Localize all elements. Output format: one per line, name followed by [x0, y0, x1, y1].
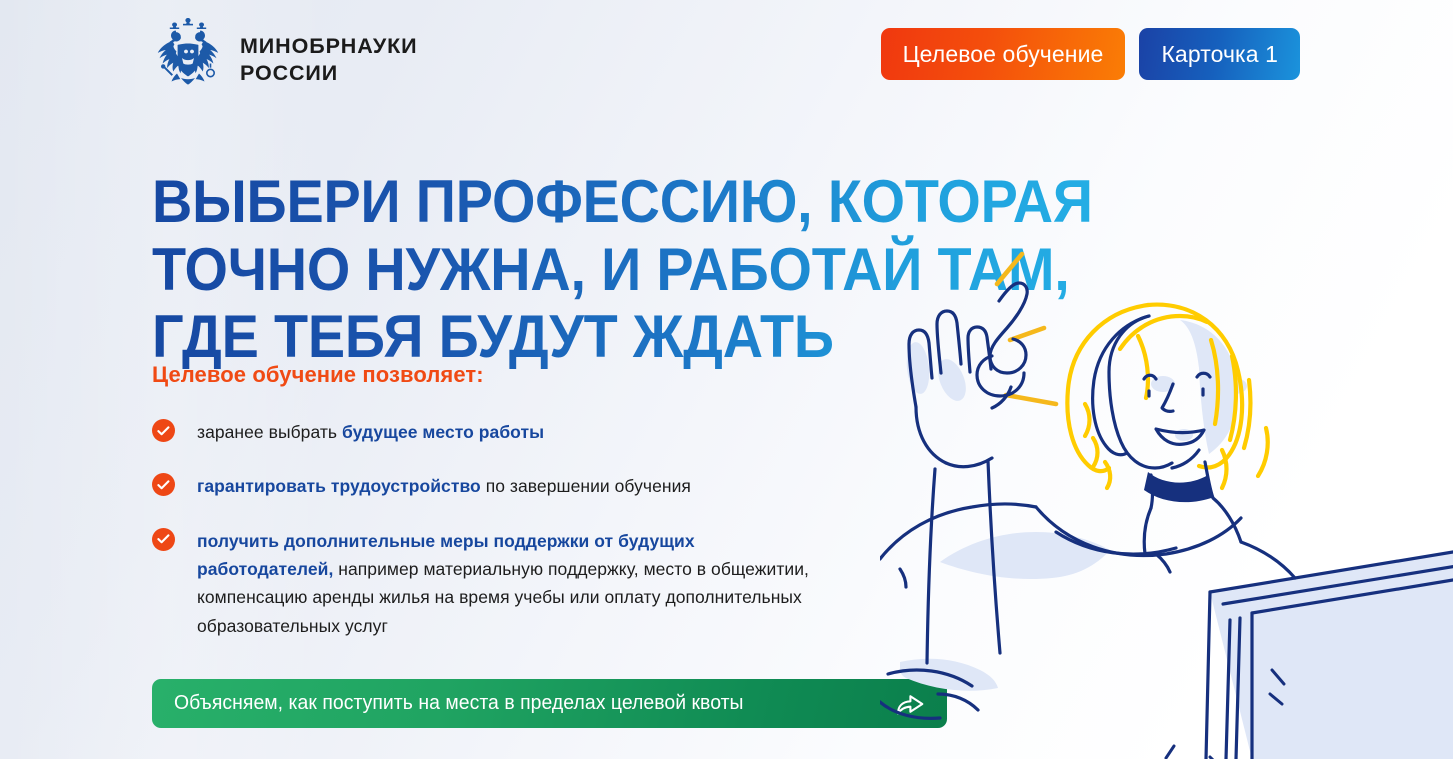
badge-card-number[interactable]: Карточка 1	[1139, 28, 1300, 80]
benefits-list: заранее выбрать будущее место работы гар…	[152, 418, 822, 666]
bullet-0-part-1: будущее место работы	[342, 422, 544, 442]
cta-button[interactable]: Объясняем, как поступить на места в пред…	[152, 679, 947, 728]
section-subheading: Целевое обучение позволяет:	[152, 362, 484, 388]
list-item-text: гарантировать трудоустройство по заверше…	[197, 472, 691, 500]
check-circle-icon	[152, 473, 175, 496]
check-circle-icon	[152, 528, 175, 551]
ministry-name: МИНОБРНАУКИ РОССИИ	[240, 29, 418, 87]
page-headline: ВЫБЕРИ ПРОФЕССИЮ, КОТОРАЯ ТОЧНО НУЖНА, И…	[152, 168, 1119, 371]
cta-button-label: Объясняем, как поступить на места в пред…	[174, 692, 744, 715]
badge-card-number-label: Карточка 1	[1161, 41, 1278, 68]
bullet-1-part-1: по завершении обучения	[481, 476, 691, 496]
bullet-0-part-0: заранее выбрать	[197, 422, 342, 442]
list-item: получить дополнительные меры поддержки о…	[152, 527, 822, 640]
list-item: заранее выбрать будущее место работы	[152, 418, 822, 446]
badge-topic[interactable]: Целевое обучение	[881, 28, 1126, 80]
list-item: гарантировать трудоустройство по заверше…	[152, 472, 822, 500]
badge-topic-label: Целевое обучение	[903, 41, 1104, 68]
ministry-brand: МИНОБРНАУКИ РОССИИ	[150, 12, 418, 104]
badge-group: Целевое обучение Карточка 1	[881, 28, 1300, 80]
check-circle-icon	[152, 419, 175, 442]
list-item-text: заранее выбрать будущее место работы	[197, 418, 544, 446]
bullet-1-part-0: гарантировать трудоустройство	[197, 476, 481, 496]
share-arrow-icon	[895, 691, 925, 717]
list-item-text: получить дополнительные меры поддержки о…	[197, 527, 822, 640]
russian-coat-of-arms-icon	[150, 12, 226, 104]
poster-canvas: МИНОБРНАУКИ РОССИИ Целевое обучение Карт…	[0, 0, 1453, 759]
